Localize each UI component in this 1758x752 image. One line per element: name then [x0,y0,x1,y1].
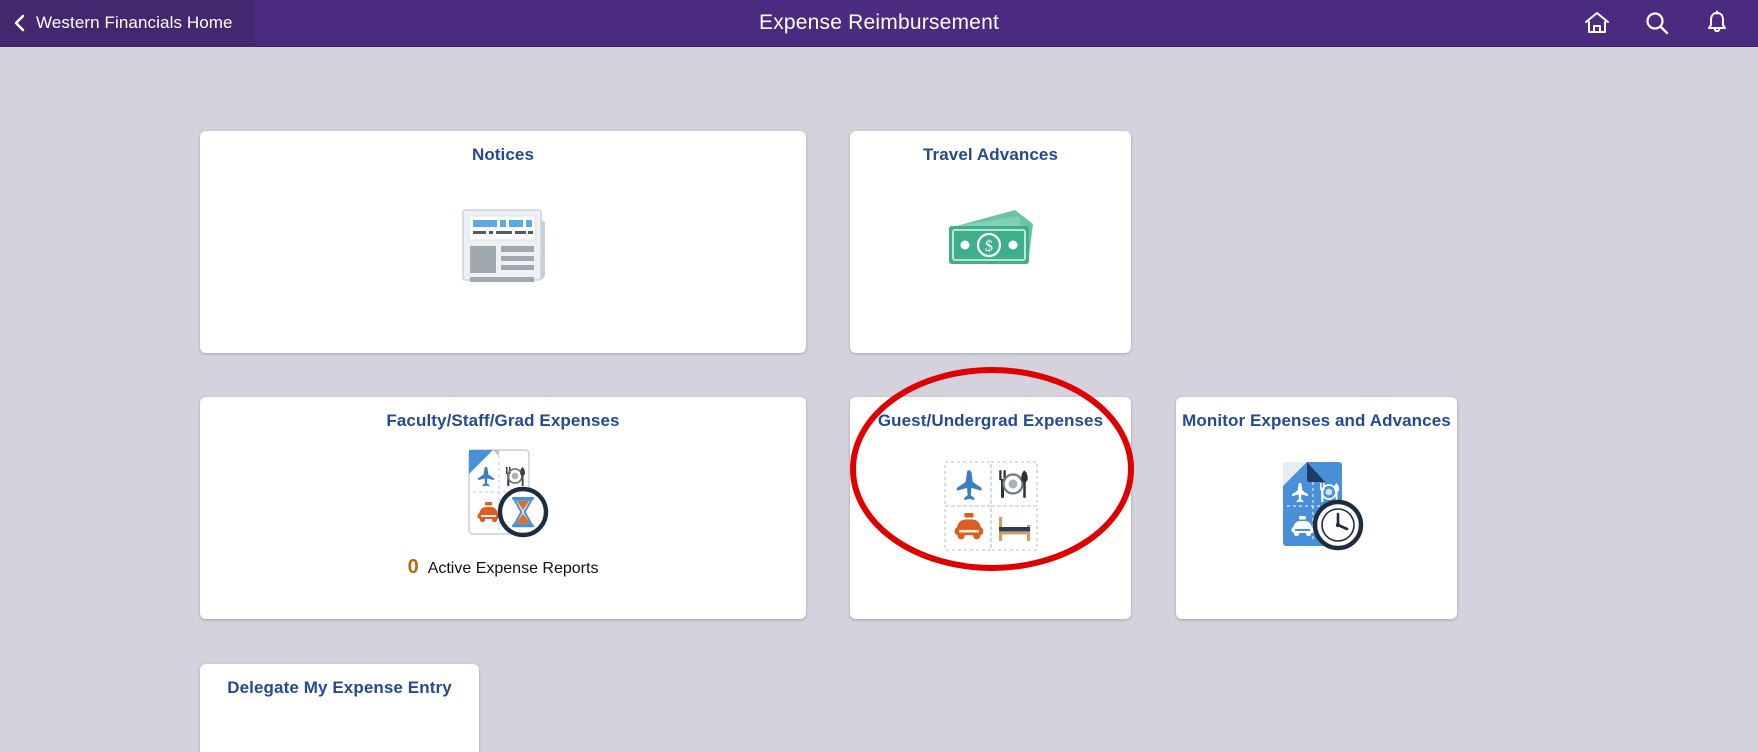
tile-icon-area [1176,431,1457,581]
home-icon[interactable] [1582,8,1612,38]
tile-icon-area [850,431,1131,581]
tile-notices[interactable]: Notices [200,131,806,353]
tile-icon-area [200,431,806,556]
tile-title-delegate-my-expense-entry: Delegate My Expense Entry [200,664,479,698]
tile-delegate-my-expense-entry[interactable]: Delegate My Expense Entry [200,664,479,752]
tile-monitor-expenses-and-advances[interactable]: Monitor Expenses and Advances [1176,397,1457,619]
active-expense-report-label: Active Expense Reports [428,560,599,578]
tile-guest-undergrad-expenses[interactable]: Guest/Undergrad Expenses [850,397,1131,619]
newspaper-icon [457,196,549,284]
tile-icon-area [200,165,806,315]
tile-title-guest-undergrad: Guest/Undergrad Expenses [850,397,1131,431]
tile-faculty-staff-grad-expenses[interactable]: Faculty/Staff/Grad Expenses [200,397,806,619]
header-icon-group [1582,8,1758,38]
back-button-label: Western Financials Home [36,13,233,33]
app-header: Western Financials Home Expense Reimburs… [0,0,1758,47]
page-title: Expense Reimbursement [0,11,1758,35]
tile-travel-advances[interactable]: Travel Advances $ [850,131,1131,353]
tile-canvas: Notices [0,47,1758,752]
search-icon[interactable] [1642,8,1672,38]
expense-report-pending-icon [451,444,555,544]
tile-icon-area: $ [850,165,1131,315]
cash-bills-icon: $ [945,204,1037,276]
tile-title-monitor-expenses: Monitor Expenses and Advances [1176,397,1457,431]
expense-report-clock-icon [1265,456,1369,556]
tile-title-notices: Notices [200,131,806,165]
active-expense-report-count: 0 [408,556,419,579]
chevron-left-icon [14,14,26,32]
svg-text:$: $ [985,238,993,255]
tile-title-travel-advances: Travel Advances [850,131,1131,165]
back-to-home-button[interactable]: Western Financials Home [0,0,255,47]
active-expense-reports-summary: 0 Active Expense Reports [200,556,806,579]
notification-icon[interactable] [1702,8,1732,38]
tile-title-faculty-staff-grad: Faculty/Staff/Grad Expenses [200,397,806,431]
expense-types-grid-icon [944,461,1038,551]
